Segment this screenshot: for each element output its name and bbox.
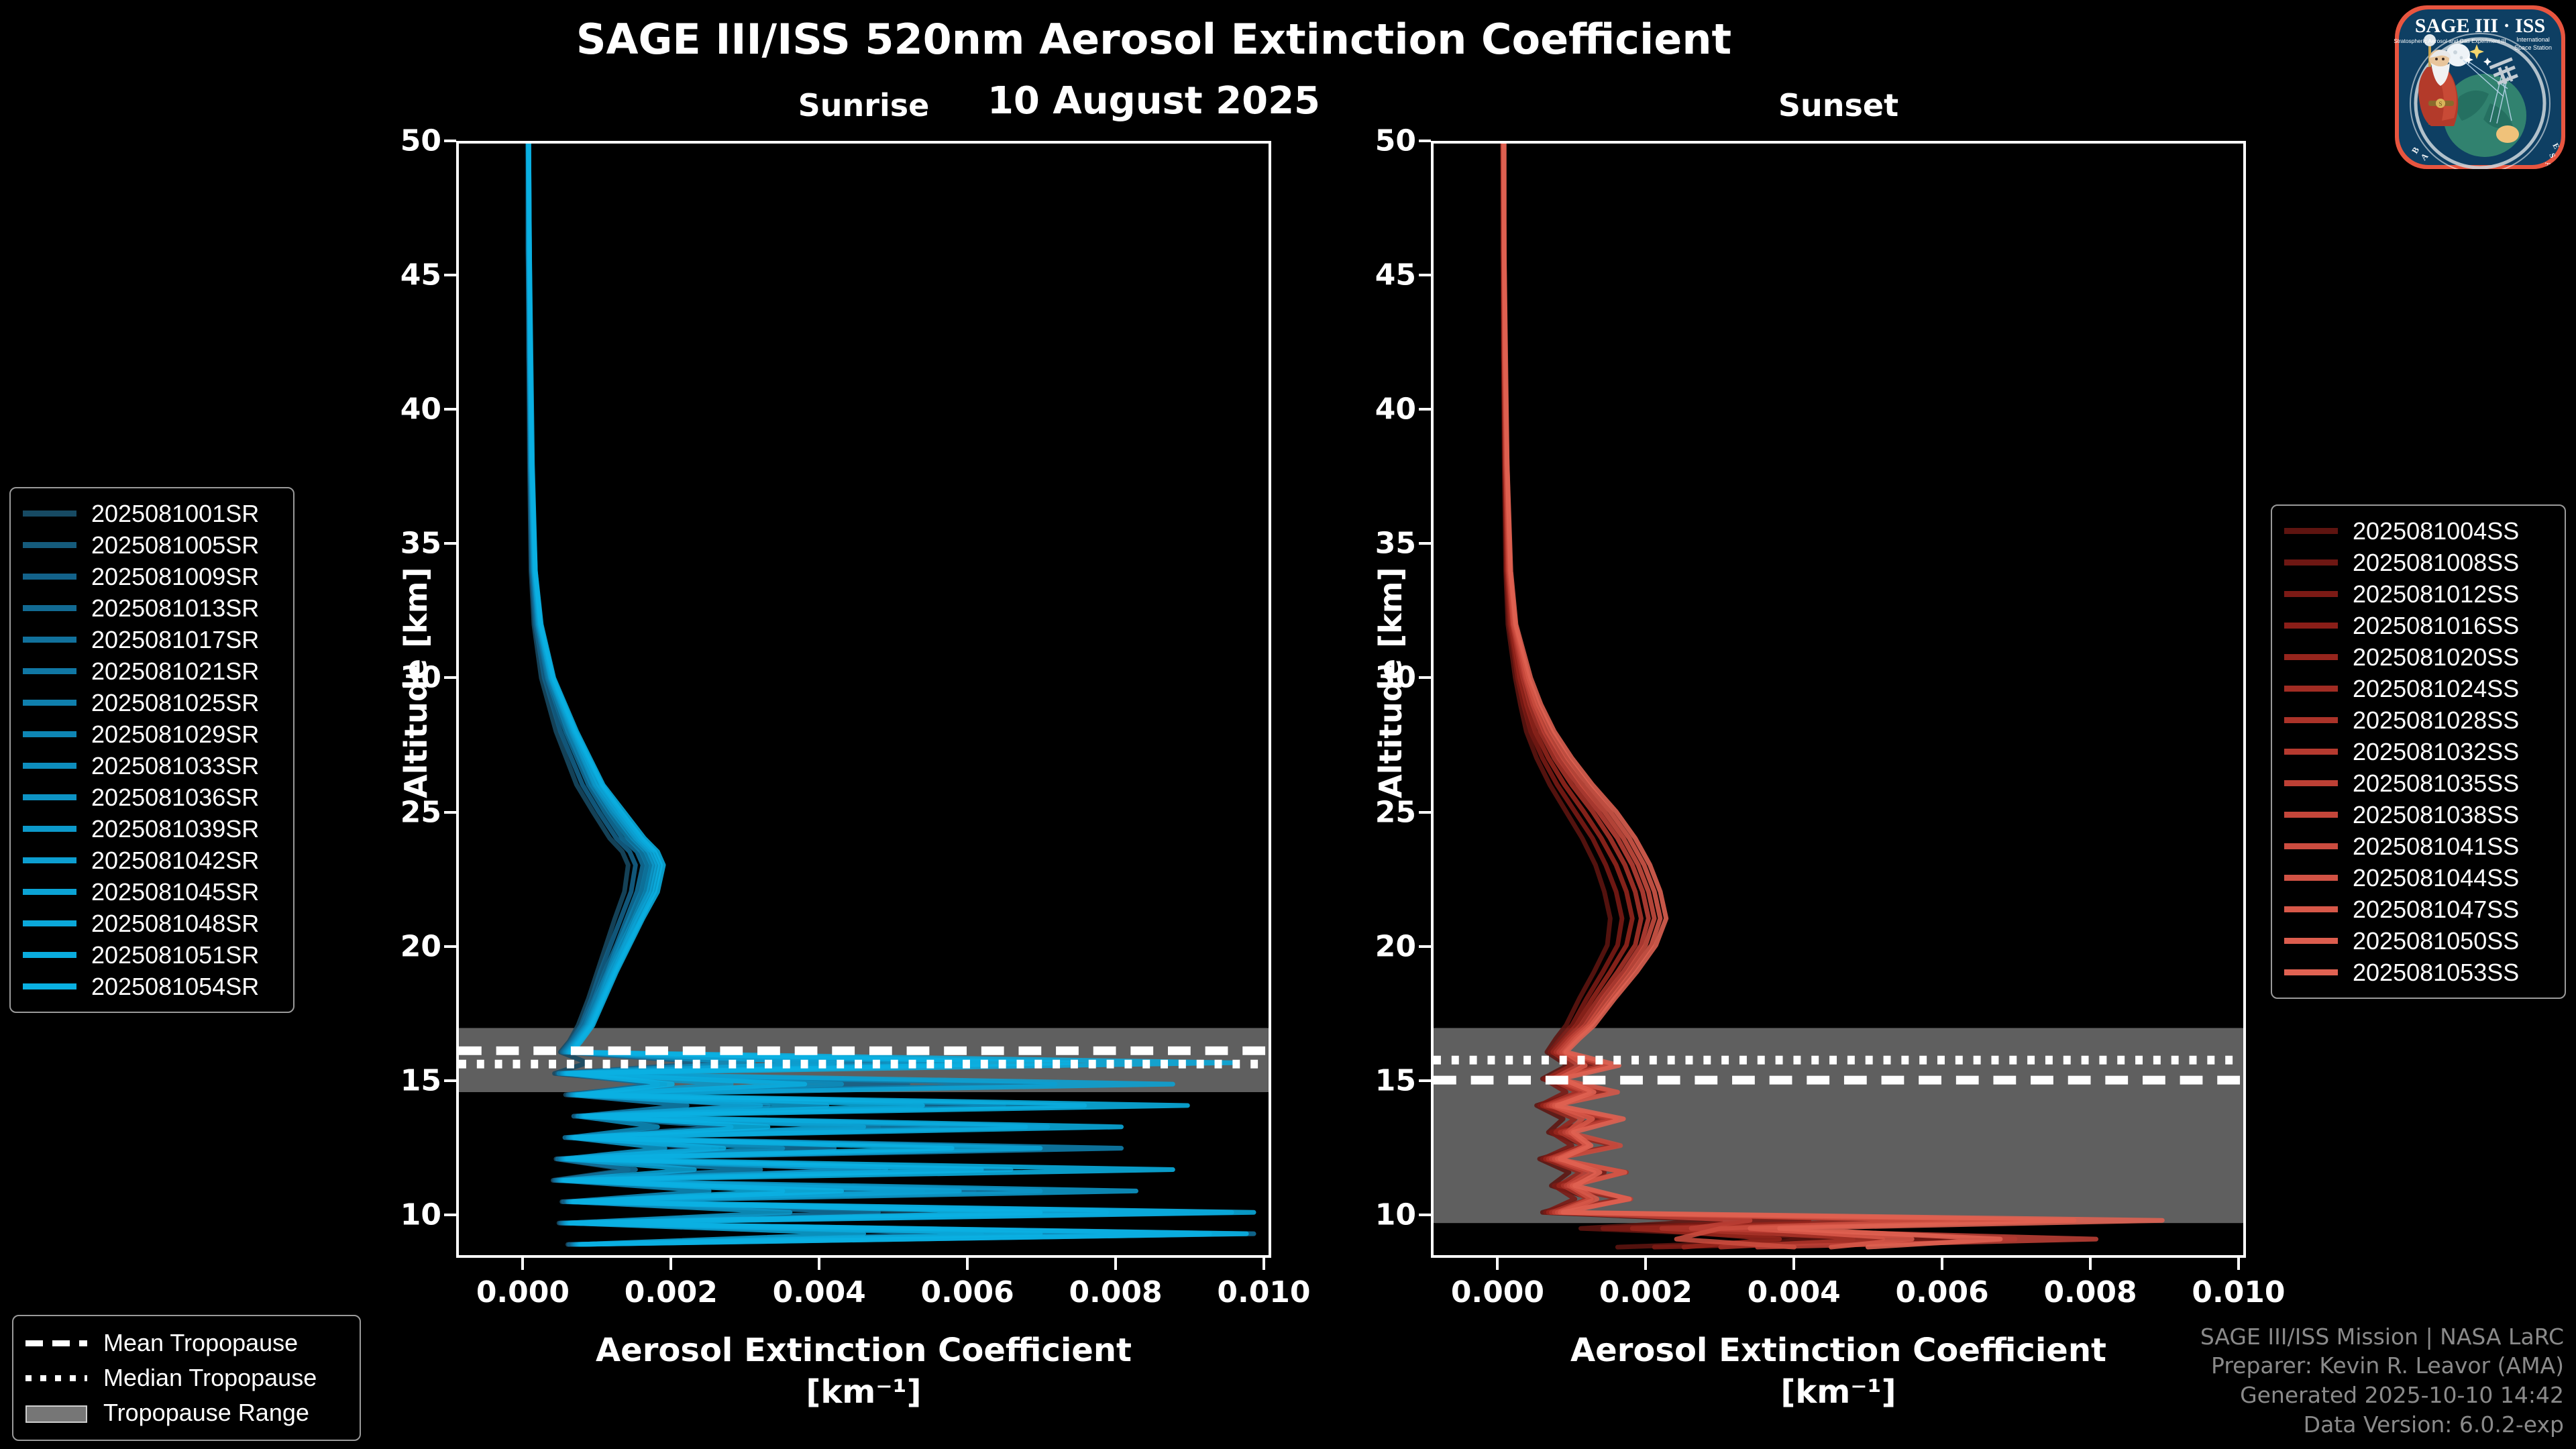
legend-item-label: 2025081004SS [2353, 517, 2519, 545]
legend-color-swatch [2284, 906, 2338, 912]
x-axis-tick-label: 0.004 [1748, 1275, 1841, 1309]
x-axis-tick-label: 0.006 [921, 1275, 1014, 1309]
legend-item-label: 2025081009SR [91, 563, 259, 591]
sunset-legend-item[interactable]: 2025081008SS [2284, 547, 2553, 578]
legend-color-swatch [2284, 528, 2338, 534]
sunset-legend-item[interactable]: 2025081035SS [2284, 767, 2553, 799]
y-axis-tick-mark [1419, 676, 1431, 679]
x-axis-tick-label: 0.000 [1451, 1275, 1544, 1309]
sunrise-legend-item[interactable]: 2025081036SR [23, 782, 281, 813]
tropopause-legend-item[interactable]: Median Tropopause [25, 1360, 347, 1395]
x-axis-tick-label: 0.010 [2192, 1275, 2285, 1309]
sunset-legend-item[interactable]: 2025081038SS [2284, 799, 2553, 830]
legend-item-label: 2025081021SR [91, 657, 259, 686]
legend-item-label: 2025081053SS [2353, 959, 2519, 987]
sunrise-legend-item[interactable]: 2025081005SR [23, 529, 281, 561]
sunset-legend-item[interactable]: 2025081044SS [2284, 862, 2553, 894]
tropopause-dotted-key-icon [25, 1375, 87, 1381]
legend-color-swatch [23, 920, 76, 926]
y-axis-tick-label: 15 [1375, 1063, 1416, 1097]
x-axis-unit-label: [km⁻¹] [1431, 1373, 2246, 1411]
legend-color-swatch [2284, 969, 2338, 975]
y-axis-tick-mark [1419, 945, 1431, 948]
tropopause-legend-swatch [25, 1334, 87, 1352]
x-axis-tick-label: 0.002 [625, 1275, 718, 1309]
sunset-legend-item[interactable]: 2025081028SS [2284, 704, 2553, 736]
sunrise-legend-item[interactable]: 2025081039SR [23, 813, 281, 845]
y-axis-tick-mark [444, 811, 456, 814]
sunset-legend-item[interactable]: 2025081024SS [2284, 673, 2553, 704]
legend-item-label: 2025081047SS [2353, 896, 2519, 924]
y-axis-tick-label: 10 [400, 1197, 441, 1232]
sunrise-legend-item[interactable]: 2025081033SR [23, 750, 281, 782]
tropopause-dashed-key-icon [25, 1340, 87, 1346]
tropopause-legend-item[interactable]: Mean Tropopause [25, 1326, 347, 1360]
x-axis-tick-label: 0.008 [2043, 1275, 2137, 1309]
legend-color-swatch [2284, 686, 2338, 692]
sunset-legend-item[interactable]: 2025081012SS [2284, 578, 2553, 610]
y-axis-tick-label: 10 [1375, 1197, 1416, 1232]
legend-color-swatch [23, 952, 76, 958]
tropopause-legend[interactable]: Mean TropopauseMedian TropopauseTropopau… [12, 1315, 361, 1441]
sunrise-legend-item[interactable]: 2025081029SR [23, 718, 281, 750]
sunset-legend-item[interactable]: 2025081016SS [2284, 610, 2553, 641]
legend-item-label: 2025081016SS [2353, 612, 2519, 640]
x-axis-tick-mark [521, 1258, 524, 1270]
sunset-legend-item[interactable]: 2025081053SS [2284, 957, 2553, 988]
legend-item-label: 2025081035SS [2353, 769, 2519, 798]
x-axis-unit-label: [km⁻¹] [456, 1373, 1271, 1411]
footer-metadata: SAGE III/ISS Mission | NASA LaRCPreparer… [2200, 1322, 2564, 1440]
legend-item-label: 2025081013SR [91, 594, 259, 623]
x-axis-tick-mark [2237, 1258, 2240, 1270]
legend-item-label: 2025081028SS [2353, 706, 2519, 735]
tropopause-legend-label: Mean Tropopause [103, 1329, 298, 1357]
y-axis-tick-mark [1419, 274, 1431, 276]
x-axis-tick-label: 0.006 [1896, 1275, 1989, 1309]
logo-title: SAGE III · ISS [2415, 15, 2545, 37]
y-axis-tick-label: 15 [400, 1063, 441, 1097]
y-axis-tick-mark [444, 945, 456, 948]
sunrise-legend-item[interactable]: 2025081017SR [23, 624, 281, 655]
legend-item-label: 2025081001SR [91, 500, 259, 528]
x-axis-tick-mark [1792, 1258, 1795, 1270]
tropopause-legend-label: Tropopause Range [103, 1399, 309, 1427]
y-axis-tick-mark [444, 408, 456, 411]
y-axis-tick-mark [1419, 1079, 1431, 1082]
sunrise-legend-item[interactable]: 2025081051SR [23, 939, 281, 971]
y-axis-tick-label: 50 [400, 124, 441, 158]
footer-line: Generated 2025-10-10 14:42 [2200, 1381, 2564, 1410]
y-axis-tick-label: 45 [1375, 258, 1416, 292]
y-axis-tick-label: 30 [1375, 661, 1416, 695]
legend-color-swatch [2284, 812, 2338, 818]
y-axis-tick-mark [1419, 811, 1431, 814]
legend-item-label: 2025081054SR [91, 973, 259, 1001]
y-axis-tick-mark [444, 676, 456, 679]
legend-item-label: 2025081032SS [2353, 738, 2519, 766]
sunrise-plot-panel [456, 141, 1271, 1258]
y-axis-tick-mark [1419, 542, 1431, 545]
x-axis-tick-label: 0.008 [1069, 1275, 1162, 1309]
sunset-plot-panel [1431, 141, 2246, 1258]
logo-subtitle-right-line1: International [2516, 36, 2550, 43]
legend-color-swatch [23, 731, 76, 737]
legend-color-swatch [23, 511, 76, 517]
sunrise-legend-item[interactable]: 2025081045SR [23, 876, 281, 908]
legend-color-swatch [2284, 591, 2338, 597]
sunset-legend-item[interactable]: 2025081047SS [2284, 894, 2553, 925]
svg-text:A: A [2543, 161, 2554, 169]
legend-color-swatch [2284, 717, 2338, 723]
legend-item-label: 2025081036SR [91, 784, 259, 812]
x-axis-tick-mark [1263, 1258, 1265, 1270]
sunrise-legend[interactable]: 2025081001SR2025081005SR2025081009SR2025… [9, 487, 294, 1013]
y-axis-tick-mark [1419, 140, 1431, 142]
page-title: SAGE III/ISS 520nm Aerosol Extinction Co… [0, 15, 2308, 64]
legend-item-label: 2025081041SS [2353, 833, 2519, 861]
legend-color-swatch [23, 574, 76, 580]
y-axis-tick-mark [444, 274, 456, 276]
sunset-legend-item[interactable]: 2025081004SS [2284, 515, 2553, 547]
x-axis-label: Aerosol Extinction Coefficient [1431, 1332, 2246, 1369]
legend-color-swatch [2284, 749, 2338, 755]
legend-color-swatch [23, 889, 76, 895]
sunset-legend-item[interactable]: 2025081020SS [2284, 641, 2553, 673]
sunrise-legend-item[interactable]: 2025081042SR [23, 845, 281, 876]
y-axis-tick-mark [444, 1214, 456, 1216]
legend-color-swatch [23, 857, 76, 863]
legend-color-swatch [23, 605, 76, 611]
y-axis-tick-label: 20 [1375, 929, 1416, 963]
legend-color-swatch [23, 763, 76, 769]
legend-color-swatch [23, 668, 76, 674]
x-axis-tick-mark [1496, 1258, 1499, 1270]
legend-item-label: 2025081039SR [91, 815, 259, 843]
legend-item-label: 2025081008SS [2353, 549, 2519, 577]
legend-color-swatch [23, 700, 76, 706]
sunrise-legend-item[interactable]: 2025081025SR [23, 687, 281, 718]
sunrise-legend-item[interactable]: 2025081048SR [23, 908, 281, 939]
sunrise-legend-item[interactable]: 2025081013SR [23, 592, 281, 624]
x-axis-tick-label: 0.002 [1599, 1275, 1693, 1309]
sunset-legend-item[interactable]: 2025081041SS [2284, 830, 2553, 862]
y-axis-tick-label: 45 [400, 258, 441, 292]
y-axis-label: Altitude [km] [1373, 597, 1409, 798]
x-axis-tick-label: 0.010 [1217, 1275, 1310, 1309]
sunrise-plot-svg [459, 144, 1269, 1255]
logo-subtitle-left: Stratospheric Aerosol and Gas Experiment… [2394, 38, 2506, 44]
legend-color-swatch [2284, 938, 2338, 944]
y-axis-tick-mark [444, 140, 456, 142]
tropopause-legend-label: Median Tropopause [103, 1364, 317, 1392]
sunrise-legend-item[interactable]: 2025081001SR [23, 498, 281, 529]
footer-line: Preparer: Kevin R. Leavor (AMA) [2200, 1351, 2564, 1381]
footer-line: SAGE III/ISS Mission | NASA LaRC [2200, 1322, 2564, 1352]
logo-subtitle-right-line2: Space Station [2514, 44, 2552, 51]
x-axis-tick-label: 0.004 [773, 1275, 866, 1309]
sunset-plot-svg [1434, 144, 2243, 1255]
legend-item-label: 2025081025SR [91, 689, 259, 717]
sunrise-legend-item[interactable]: 2025081021SR [23, 655, 281, 687]
sunset-panel-title: Sunset [1431, 87, 2246, 123]
legend-color-swatch [23, 637, 76, 643]
y-axis-tick-label: 30 [400, 661, 441, 695]
legend-item-label: 2025081038SS [2353, 801, 2519, 829]
tropopause-legend-item[interactable]: Tropopause Range [25, 1395, 347, 1430]
x-axis-tick-mark [1941, 1258, 1943, 1270]
legend-color-swatch [23, 542, 76, 548]
y-axis-tick-mark [1419, 408, 1431, 411]
x-axis-tick-label: 0.000 [476, 1275, 570, 1309]
legend-color-swatch [2284, 780, 2338, 786]
x-axis-label: Aerosol Extinction Coefficient [456, 1332, 1271, 1369]
y-axis-label: Altitude [km] [398, 597, 434, 798]
sage-iii-iss-mission-patch-logo: S B A E S A SAGE III · ISS Stratospheric… [2390, 3, 2571, 172]
y-axis-tick-label: 35 [400, 527, 441, 561]
legend-color-swatch [23, 983, 76, 989]
legend-item-label: 2025081029SR [91, 720, 259, 749]
y-axis-tick-label: 40 [1375, 392, 1416, 427]
legend-color-swatch [23, 826, 76, 832]
legend-color-swatch [2284, 875, 2338, 881]
tropopause-legend-swatch [25, 1369, 87, 1387]
legend-item-label: 2025081050SS [2353, 927, 2519, 955]
legend-color-swatch [23, 794, 76, 800]
y-axis-tick-mark [444, 1079, 456, 1082]
y-axis-tick-label: 25 [400, 795, 441, 829]
x-axis-tick-mark [818, 1258, 820, 1270]
y-axis-tick-label: 40 [400, 392, 441, 427]
y-axis-tick-mark [1419, 1214, 1431, 1216]
sunrise-legend-item[interactable]: 2025081054SR [23, 971, 281, 1002]
footer-line: Data Version: 6.0.2-exp [2200, 1410, 2564, 1440]
y-axis-tick-mark [444, 542, 456, 545]
x-axis-tick-mark [1114, 1258, 1117, 1270]
legend-color-swatch [2284, 654, 2338, 660]
legend-item-label: 2025081045SR [91, 878, 259, 906]
y-axis-tick-label: 35 [1375, 527, 1416, 561]
sunset-legend-item[interactable]: 2025081032SS [2284, 736, 2553, 767]
sunrise-panel-title: Sunrise [456, 87, 1271, 123]
y-axis-tick-label: 25 [1375, 795, 1416, 829]
legend-color-swatch [2284, 843, 2338, 849]
sunset-legend-item[interactable]: 2025081050SS [2284, 925, 2553, 957]
x-axis-tick-mark [2089, 1258, 2092, 1270]
legend-color-swatch [2284, 623, 2338, 629]
legend-item-label: 2025081051SR [91, 941, 259, 969]
tropopause-band-key-icon [25, 1405, 87, 1423]
y-axis-tick-label: 20 [400, 929, 441, 963]
sunset-legend[interactable]: 2025081004SS2025081008SS2025081012SS2025… [2271, 504, 2566, 999]
legend-item-label: 2025081005SR [91, 531, 259, 559]
legend-item-label: 2025081017SR [91, 626, 259, 654]
x-axis-tick-mark [669, 1258, 672, 1270]
svg-text:S: S [2438, 101, 2442, 107]
legend-color-swatch [2284, 559, 2338, 566]
legend-item-label: 2025081042SR [91, 847, 259, 875]
x-axis-tick-mark [966, 1258, 969, 1270]
legend-item-label: 2025081033SR [91, 752, 259, 780]
x-axis-tick-mark [1644, 1258, 1647, 1270]
legend-item-label: 2025081048SR [91, 910, 259, 938]
legend-item-label: 2025081012SS [2353, 580, 2519, 608]
legend-item-label: 2025081024SS [2353, 675, 2519, 703]
sunrise-legend-item[interactable]: 2025081009SR [23, 561, 281, 592]
legend-item-label: 2025081020SS [2353, 643, 2519, 672]
legend-item-label: 2025081044SS [2353, 864, 2519, 892]
tropopause-legend-swatch [25, 1404, 87, 1421]
y-axis-tick-label: 50 [1375, 124, 1416, 158]
